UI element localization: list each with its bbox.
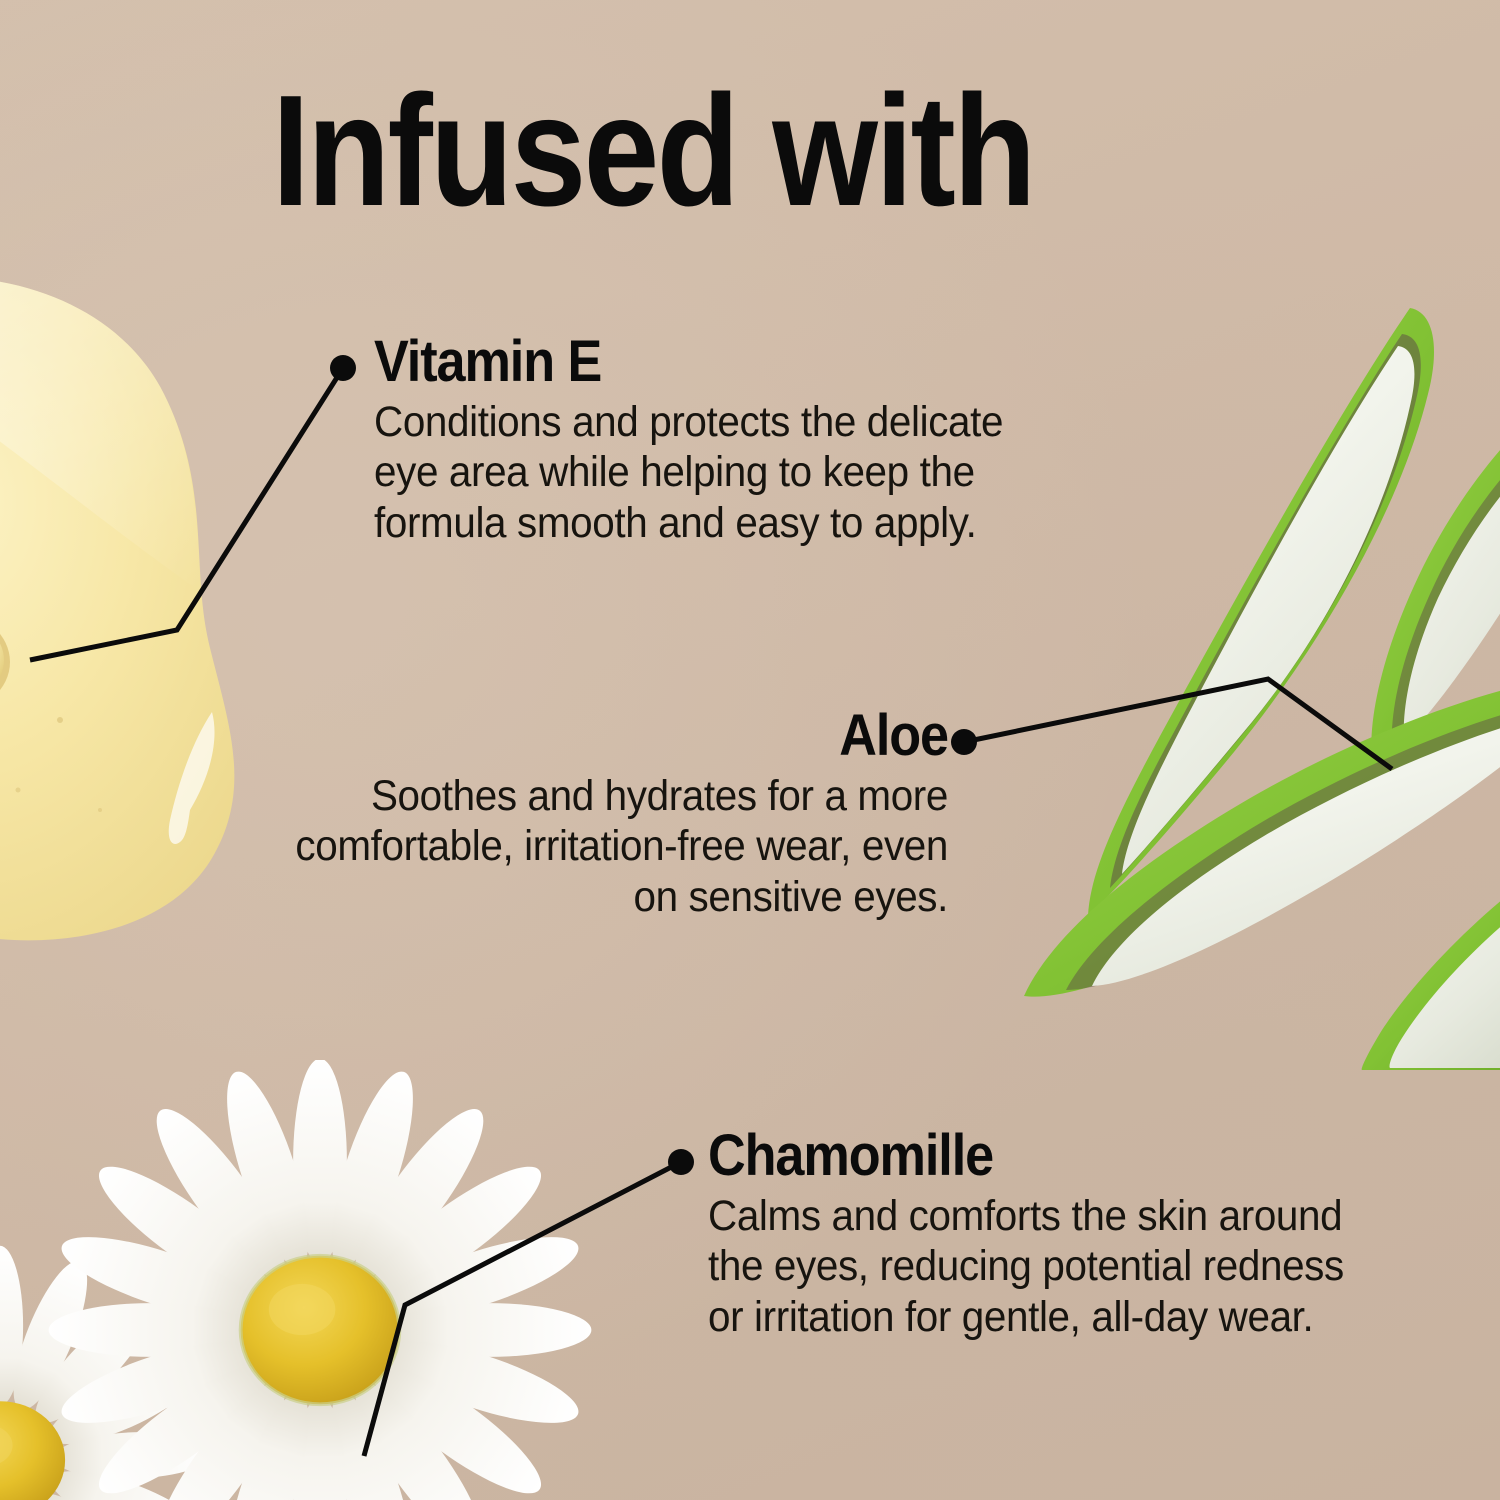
ingredient-block-chamomille: Chamomille Calms and comforts the skin a… bbox=[708, 1126, 1408, 1342]
ingredient-title-vitamin-e: Vitamin E bbox=[374, 332, 1004, 391]
infographic-canvas: Infused with Vitamin E Conditions and pr… bbox=[0, 0, 1500, 1500]
ingredient-block-vitamin-e: Vitamin E Conditions and protects the de… bbox=[374, 332, 1074, 548]
ingredient-description-aloe: Soothes and hydrates for a more comforta… bbox=[290, 771, 948, 922]
ingredient-title-aloe: Aloe bbox=[318, 706, 948, 765]
ingredient-description-vitamin-e: Conditions and protects the delicate eye… bbox=[374, 397, 1032, 548]
ingredient-title-chamomille: Chamomille bbox=[708, 1126, 1338, 1185]
page-title: Infused with bbox=[272, 72, 1034, 230]
ingredient-block-aloe: Aloe Soothes and hydrates for a more com… bbox=[248, 706, 948, 922]
ingredient-description-chamomille: Calms and comforts the skin around the e… bbox=[708, 1191, 1366, 1342]
